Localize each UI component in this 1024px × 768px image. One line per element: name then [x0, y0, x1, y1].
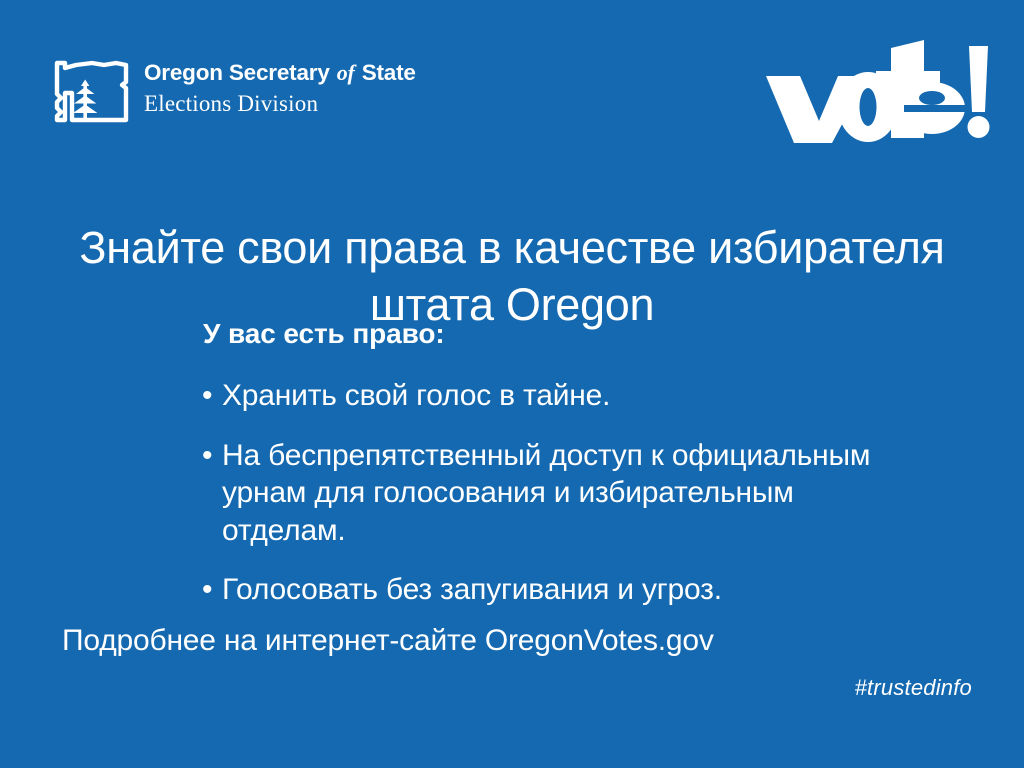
more-info-text: Подробнее на интернет-сайте OregonVotes.… — [62, 624, 714, 658]
rights-list: • Хранить свой голос в тайне. • На беспр… — [200, 377, 900, 609]
bullet-marker-icon: • — [202, 437, 212, 475]
slide: Oregon Secretary of State Elections Divi… — [0, 0, 1024, 768]
oregon-secretary-of-state-logo: Oregon Secretary of State Elections Divi… — [52, 54, 416, 132]
page-title: Знайте свои права в качестве избирателя … — [62, 220, 962, 333]
bullet-marker-icon: • — [202, 377, 212, 415]
agency-name-suffix: State — [362, 60, 416, 85]
bullet-marker-icon: • — [202, 571, 212, 609]
vote-letter-e-counter — [919, 91, 945, 105]
agency-name-line1: Oregon Secretary of State — [144, 62, 416, 85]
vote-exclamation-dot — [968, 116, 990, 138]
vote-letter-o-counter — [860, 88, 877, 126]
list-item-label: На беспрепятственный доступ к официальны… — [222, 437, 900, 550]
vote-exclamation-stem — [969, 46, 988, 112]
agency-name-of: of — [336, 60, 356, 85]
list-item: • Хранить свой голос в тайне. — [200, 377, 900, 415]
vote-letter-e-bar — [904, 105, 966, 112]
list-item-label: Хранить свой голос в тайне. — [222, 377, 900, 415]
agency-name-prefix: Oregon Secretary — [144, 60, 330, 85]
agency-wordmark: Oregon Secretary of State Elections Divi… — [144, 54, 416, 115]
list-item: • На беспрепятственный доступ к официаль… — [200, 437, 900, 550]
list-item-label: Голосовать без запугивания и угроз. — [222, 571, 900, 609]
hashtag-label: #trustedinfo — [855, 675, 972, 701]
slide-header: Oregon Secretary of State Elections Divi… — [0, 0, 1024, 160]
agency-division-name: Elections Division — [144, 92, 416, 115]
oregon-state-outline-with-fir-tree-icon — [52, 54, 134, 132]
subheading: У вас есть право: — [203, 318, 445, 350]
vote-wordmark-logo — [764, 38, 994, 143]
list-item: • Голосовать без запугивания и угроз. — [200, 571, 900, 609]
